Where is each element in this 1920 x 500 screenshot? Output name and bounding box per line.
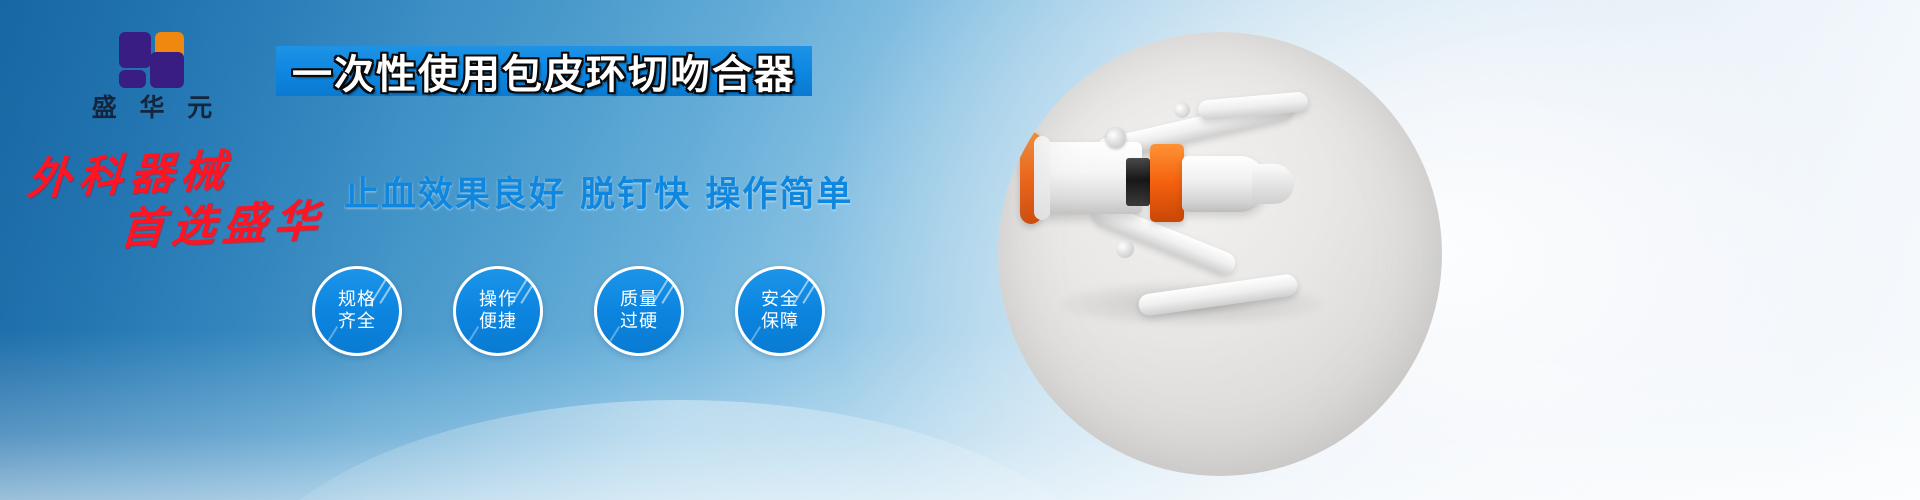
subtitle-text: 止血效果良好 脱钉快 操作简单: [344, 166, 853, 217]
circumcision-stapler-illustration: [998, 32, 1442, 476]
feature-badge-line-2: 过硬: [620, 311, 658, 334]
stapler-orange-end-ring: [1020, 132, 1042, 224]
feature-badge-line-2: 齐全: [338, 311, 376, 334]
feature-badge-quality[interactable]: 质量 过硬: [594, 266, 684, 356]
feature-badge-line-2: 便捷: [479, 311, 517, 334]
slash-accent-icon: [608, 326, 620, 344]
stapler-cone-head: [1182, 156, 1266, 212]
headline-bar: 一次性使用包皮环切吻合器: [276, 46, 812, 96]
logo-square-purple-bottom-left: [119, 70, 146, 88]
slash-accent-icon: [749, 326, 761, 344]
stapler-lower-handle: [1137, 273, 1299, 317]
shenghuayuan-blocks-logo-icon: [119, 28, 185, 88]
stapler-black-band: [1126, 158, 1150, 206]
feature-badge-safety[interactable]: 安全 保障: [735, 266, 825, 356]
calligraphy-line-1: 外科器械: [26, 146, 234, 206]
calligraphy-slogan: 外科器械 首选盛华: [22, 146, 329, 257]
brand-name: 盛 华 元: [62, 94, 242, 122]
stapler-tip: [1252, 164, 1294, 204]
promo-banner: 盛 华 元 外科器械 首选盛华 一次性使用包皮环切吻合器 止血效果良好 脱钉快 …: [0, 0, 1920, 500]
page-title: 一次性使用包皮环切吻合器: [292, 42, 796, 100]
stapler-hinge-pin: [1106, 128, 1126, 148]
feature-badge-operation[interactable]: 操作 便捷: [453, 266, 543, 356]
brand-logo-block: 盛 华 元: [62, 28, 242, 122]
stapler-white-end-cap: [1034, 136, 1050, 220]
stapler-lower-arm: [1091, 201, 1238, 278]
logo-square-purple-bottom-right: [150, 52, 184, 88]
feature-badge-line-2: 保障: [761, 311, 799, 334]
feature-badge-line-1: 安全: [761, 289, 799, 312]
feature-badge-list: 规格 齐全 操作 便捷 质量 过硬 安全 保障: [312, 266, 825, 356]
feature-badge-line-1: 规格: [338, 289, 376, 312]
logo-square-purple-top-left: [119, 32, 151, 68]
stapler-barrel: [1032, 142, 1142, 214]
product-photo: [998, 32, 1442, 476]
slash-accent-icon: [467, 326, 479, 344]
calligraphy-line-2: 首选盛华: [119, 199, 326, 252]
slash-accent-icon: [326, 326, 338, 344]
stapler-hinge-pin-upper: [1174, 102, 1190, 118]
feature-badge-line-1: 操作: [479, 289, 517, 312]
stapler-upper-arm-extension: [1197, 91, 1308, 121]
stapler-upper-arm: [1094, 96, 1294, 162]
feature-badge-line-1: 质量: [620, 289, 658, 312]
feature-badge-specifications[interactable]: 规格 齐全: [312, 266, 402, 356]
product-drop-shadow: [1062, 282, 1322, 326]
stapler-hinge-pin-lower: [1116, 240, 1134, 258]
stapler-orange-collar: [1150, 144, 1184, 222]
